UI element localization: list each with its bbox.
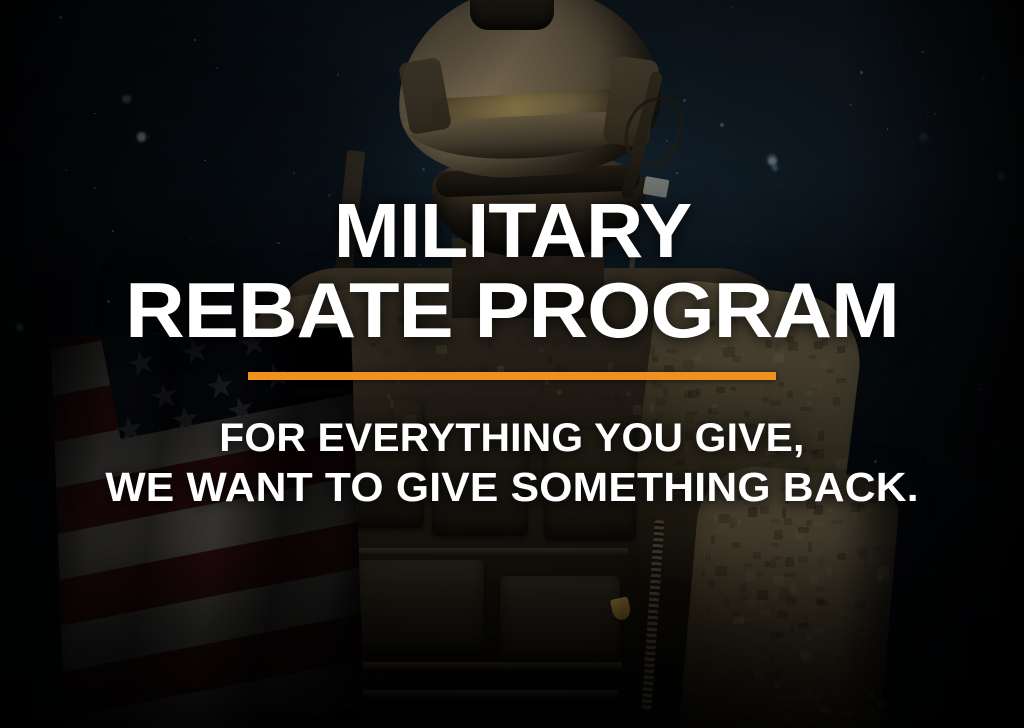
subheadline-line-2: WE WANT TO GIVE SOMETHING BACK. bbox=[105, 465, 918, 511]
military-rebate-banner: ★★★★★★★★★ MILITARY REBATE PROGRAM FOR EV… bbox=[0, 0, 1024, 728]
subheadline-line-1: FOR EVERYTHING YOU GIVE, bbox=[219, 416, 804, 461]
headline-line-1: MILITARY bbox=[333, 196, 690, 268]
headline-line-2: REBATE PROGRAM bbox=[125, 274, 899, 347]
banner-content: MILITARY REBATE PROGRAM FOR EVERYTHING Y… bbox=[0, 0, 1024, 728]
orange-divider-rule bbox=[248, 372, 776, 380]
